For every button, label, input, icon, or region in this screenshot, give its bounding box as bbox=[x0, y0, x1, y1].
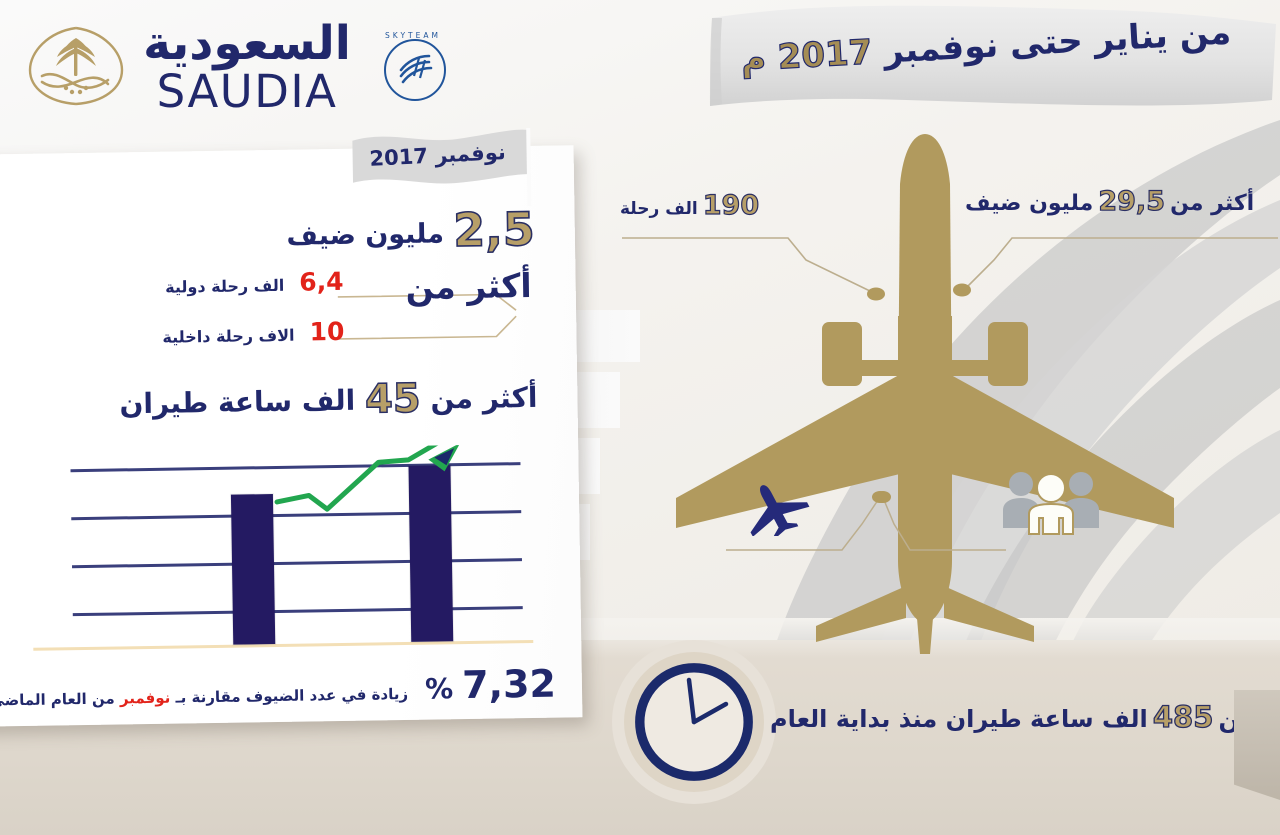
growth-caption-before: زيادة في عدد الضيوف مقارنة بـ bbox=[175, 685, 408, 707]
callout-leader-flights bbox=[620, 218, 900, 308]
breakdown-value-1: 10 bbox=[309, 317, 344, 347]
guests-unit: مليون ضيف bbox=[286, 218, 444, 251]
breakdown-label-0: الف رحلة دولية bbox=[165, 276, 284, 297]
growth-chart bbox=[8, 444, 541, 654]
callout-leader-guests bbox=[950, 216, 1280, 306]
growth-value: 7,32 bbox=[462, 662, 556, 707]
callout-guests-text: مليون ضيف bbox=[965, 191, 1093, 216]
month-flag-year: 2017 bbox=[369, 144, 429, 171]
svg-text:SKYTEAM: SKYTEAM bbox=[385, 31, 441, 40]
callout-guests-prefix: أكثر من bbox=[1170, 191, 1254, 216]
flight-hours-value: 45 bbox=[365, 376, 421, 423]
breakdown-row-international: 6,4 الف رحلة دولية bbox=[165, 267, 344, 299]
breakdown-value-0: 6,4 bbox=[299, 267, 344, 297]
people-group-icon bbox=[995, 466, 1107, 536]
flight-hours-unit: الف ساعة طيران bbox=[119, 384, 355, 421]
growth-caption-highlight: نوفمبر bbox=[120, 689, 171, 708]
clock-icon bbox=[610, 638, 778, 806]
guests-value: 2,5 bbox=[453, 202, 535, 257]
growth-caption: 7,32 % زيادة في عدد الضيوف مقارنة بـ نوف… bbox=[0, 662, 556, 715]
callout-leader-people bbox=[880, 490, 1010, 560]
header-title-year: 2017 bbox=[777, 32, 874, 77]
saudia-wordmark: السعودية SAUDIA bbox=[132, 20, 362, 116]
flight-hours-prefix: أكثر من bbox=[430, 381, 538, 416]
chart-trend-arrow bbox=[8, 444, 541, 654]
flight-hours-stat: أكثر من 45 الف ساعة طيران bbox=[119, 374, 538, 427]
guests-stat: 2,5 مليون ضيف bbox=[286, 202, 535, 260]
brand-name-arabic: السعودية bbox=[132, 20, 362, 67]
growth-caption-after: من العام الماضي bbox=[0, 690, 115, 710]
statistics-card: نوفمبر 2017 2,5 مليون ضيف 6,4 bbox=[0, 145, 582, 726]
callout-flights-number: 190 bbox=[703, 190, 759, 221]
brand-name-english: SAUDIA bbox=[132, 69, 362, 114]
callout-leader-small-plane bbox=[722, 490, 892, 560]
callout-flights-text: الف رحلة bbox=[620, 199, 698, 219]
annual-hours-text: الف ساعة طيران منذ بداية العام bbox=[770, 705, 1148, 733]
skyteam-logo-icon: SKYTEAM bbox=[367, 28, 459, 108]
corner-accent bbox=[1234, 690, 1280, 800]
breakdown-row-domestic: 10 الاف رحلة داخلية bbox=[162, 317, 344, 349]
infographic-canvas: السعودية SAUDIA SKYTEAM bbox=[0, 0, 1280, 835]
growth-symbol: % bbox=[425, 672, 454, 705]
palm-and-swords-icon bbox=[22, 22, 130, 108]
month-flag-month: نوفمبر bbox=[435, 140, 507, 168]
header-ribbon: من يناير حتى نوفمبر 2017 م bbox=[706, 4, 1280, 116]
callout-guests-number: 29,5 bbox=[1098, 186, 1165, 217]
saudia-logo: السعودية SAUDIA SKYTEAM bbox=[22, 14, 472, 114]
growth-caption-text: زيادة في عدد الضيوف مقارنة بـ نوفمبر من … bbox=[0, 685, 408, 710]
more-than-label: أكثر من bbox=[405, 266, 532, 307]
callout-annual-hours: أكثر من 485 الف ساعة طيران منذ بداية الع… bbox=[770, 700, 1280, 734]
header-title-post: م bbox=[740, 38, 767, 79]
callout-guests: أكثر من 29,5 مليون ضيف bbox=[965, 186, 1254, 217]
month-flag-banner: نوفمبر 2017 bbox=[348, 128, 549, 195]
breakdown-label-1: الاف رحلة داخلية bbox=[162, 326, 294, 347]
callout-flights: 190 الف رحلة bbox=[620, 190, 759, 221]
annual-hours-number: 485 bbox=[1153, 700, 1214, 734]
